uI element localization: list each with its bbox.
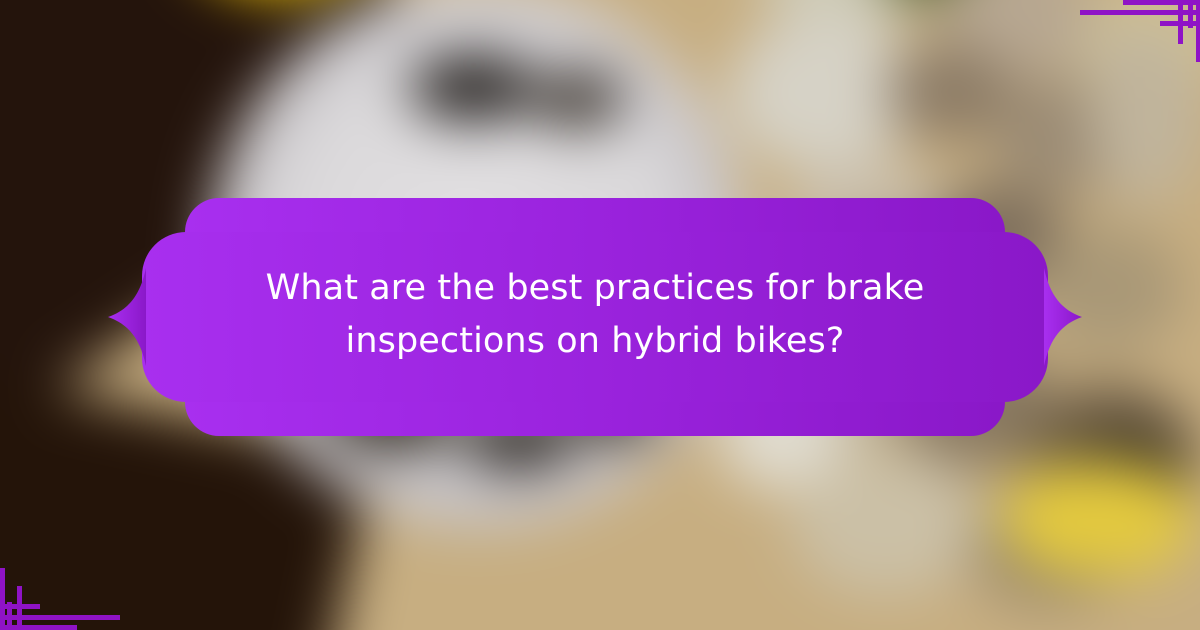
bracket-line-v bbox=[1178, 0, 1183, 44]
food-blob bbox=[833, 236, 928, 321]
background-photo bbox=[0, 0, 1200, 630]
food-blob bbox=[717, 373, 844, 490]
bracket-line-v bbox=[1196, 0, 1200, 62]
bracket-line-v bbox=[17, 586, 22, 630]
bracket-line-v bbox=[1188, 0, 1193, 28]
bracket-line-v bbox=[7, 602, 12, 630]
yellow-object-bottom-right bbox=[1003, 460, 1194, 577]
social-card-canvas: What are the best practices for brake in… bbox=[0, 0, 1200, 630]
food-item bbox=[532, 72, 623, 127]
corner-bracket-top-right bbox=[1055, 0, 1200, 70]
food-item bbox=[310, 363, 384, 416]
food-item bbox=[409, 55, 536, 121]
food-item bbox=[564, 382, 662, 441]
corner-bracket-bottom-left bbox=[0, 560, 145, 630]
food-item bbox=[462, 407, 572, 468]
food-blob bbox=[1035, 225, 1183, 352]
bracket-line-v bbox=[0, 568, 5, 630]
